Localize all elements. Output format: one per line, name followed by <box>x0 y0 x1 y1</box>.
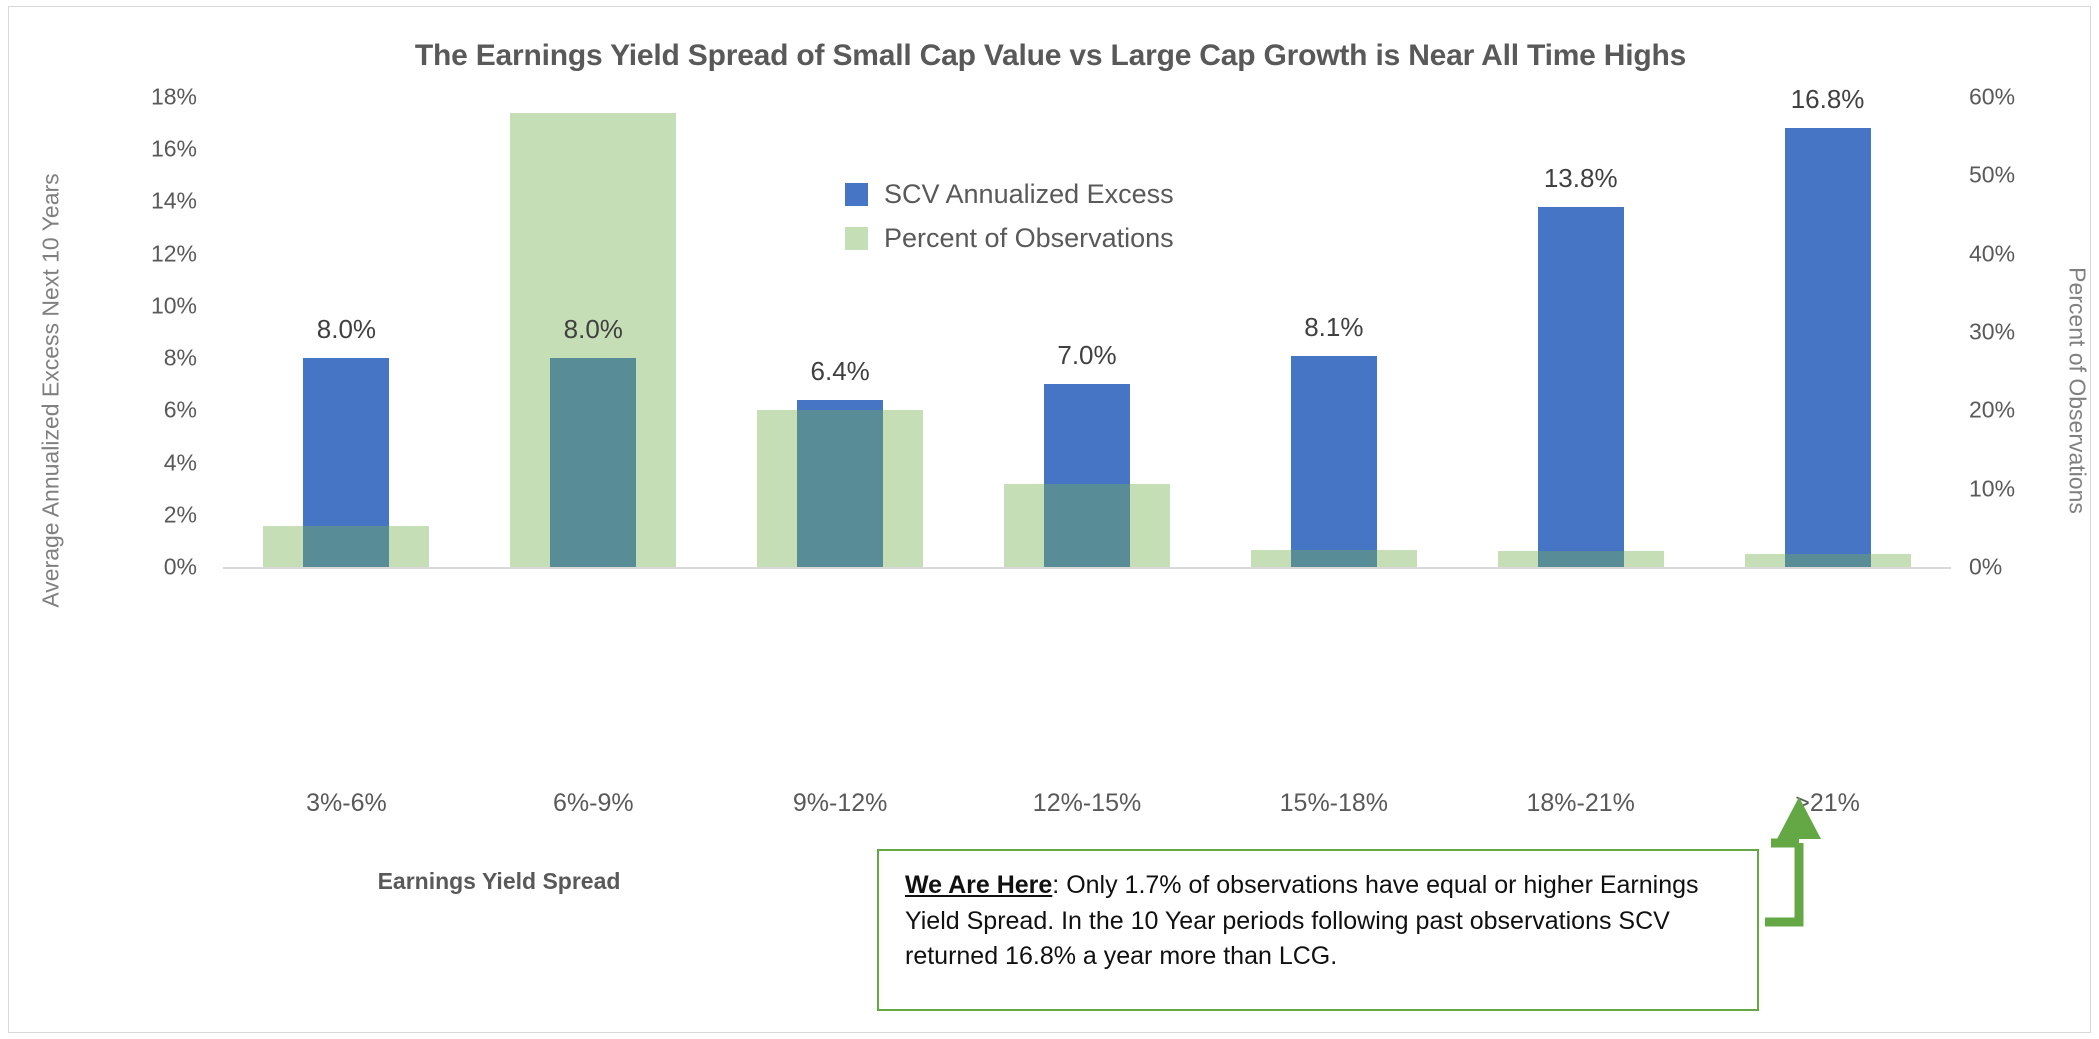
legend-label: SCV Annualized Excess <box>884 179 1174 210</box>
bar-value-label: 7.0% <box>1057 340 1116 371</box>
bar-value-label: 16.8% <box>1791 84 1865 115</box>
bar-value-label: 6.4% <box>811 356 870 387</box>
y-axis-left-tick-label: 4% <box>87 449 197 476</box>
y-axis-left-tick-label: 12% <box>87 240 197 267</box>
bar-value-label: 13.8% <box>1544 163 1618 194</box>
y-axis-right-tick-label: 60% <box>1969 84 2079 111</box>
we-are-here-callout: We Are Here: Only 1.7% of observations h… <box>877 849 1759 1011</box>
y-axis-left-tick-label: 6% <box>87 397 197 424</box>
y-axis-right-tick-label: 10% <box>1969 475 2079 502</box>
bar-scv-annualized-excess <box>1538 207 1624 567</box>
chart-title: The Earnings Yield Spread of Small Cap V… <box>9 39 2092 73</box>
legend-swatch-icon <box>845 227 868 250</box>
legend-item[interactable]: SCV Annualized Excess <box>845 179 1174 210</box>
legend: SCV Annualized ExcessPercent of Observat… <box>845 179 1174 267</box>
bar-overlap-region <box>1044 484 1130 567</box>
callout-text: We Are Here: Only 1.7% of observations h… <box>905 868 1735 975</box>
x-axis-tick-label: 3%-6% <box>306 789 387 818</box>
bar-overlap-region <box>1538 551 1624 567</box>
y-axis-right-tick-label: 0% <box>1969 554 2079 581</box>
y-axis-left-tick-label: 16% <box>87 136 197 163</box>
y-axis-right-tick-label: 20% <box>1969 397 2079 424</box>
callout-lead: We Are Here <box>905 871 1052 899</box>
bar-value-label: 8.1% <box>1304 312 1363 343</box>
x-axis-title: Earnings Yield Spread <box>339 868 659 895</box>
y-axis-left-tick-label: 10% <box>87 292 197 319</box>
bar-overlap-region <box>1291 550 1377 567</box>
x-axis-tick-label: 12%-15% <box>1033 789 1141 818</box>
legend-item[interactable]: Percent of Observations <box>845 223 1174 254</box>
y-axis-left-tick-label: 18% <box>87 84 197 111</box>
y-axis-right-tick-label: 40% <box>1969 240 2079 267</box>
y-axis-left-title: Average Annualized Excess Next 10 Years <box>38 161 65 621</box>
x-axis-tick-label: 15%-18% <box>1280 789 1388 818</box>
y-axis-right-tick-label: 30% <box>1969 319 2079 346</box>
y-axis-left-tick-label: 14% <box>87 188 197 215</box>
x-axis-tick-label: 6%-9% <box>553 789 634 818</box>
y-axis-left-tick-label: 0% <box>87 554 197 581</box>
bar-overlap-region <box>1785 554 1871 567</box>
bar-scv-annualized-excess <box>1785 128 1871 567</box>
y-axis-left-tick-label: 2% <box>87 501 197 528</box>
legend-swatch-icon <box>845 183 868 206</box>
legend-label: Percent of Observations <box>884 223 1174 254</box>
x-axis-tick-label: 9%-12% <box>793 789 888 818</box>
bar-value-label: 8.0% <box>564 314 623 345</box>
bar-overlap-region <box>550 358 636 567</box>
y-axis-right-tick-label: 50% <box>1969 162 2079 189</box>
bar-overlap-region <box>797 410 883 567</box>
chart-frame: The Earnings Yield Spread of Small Cap V… <box>8 6 2091 1033</box>
up-arrow-annotation <box>1761 777 1839 927</box>
x-axis-tick-label: 18%-21% <box>1527 789 1635 818</box>
bar-value-label: 8.0% <box>317 314 376 345</box>
bar-overlap-region <box>303 526 389 567</box>
y-axis-left-tick-label: 8% <box>87 345 197 372</box>
bar-scv-annualized-excess <box>1291 356 1377 568</box>
